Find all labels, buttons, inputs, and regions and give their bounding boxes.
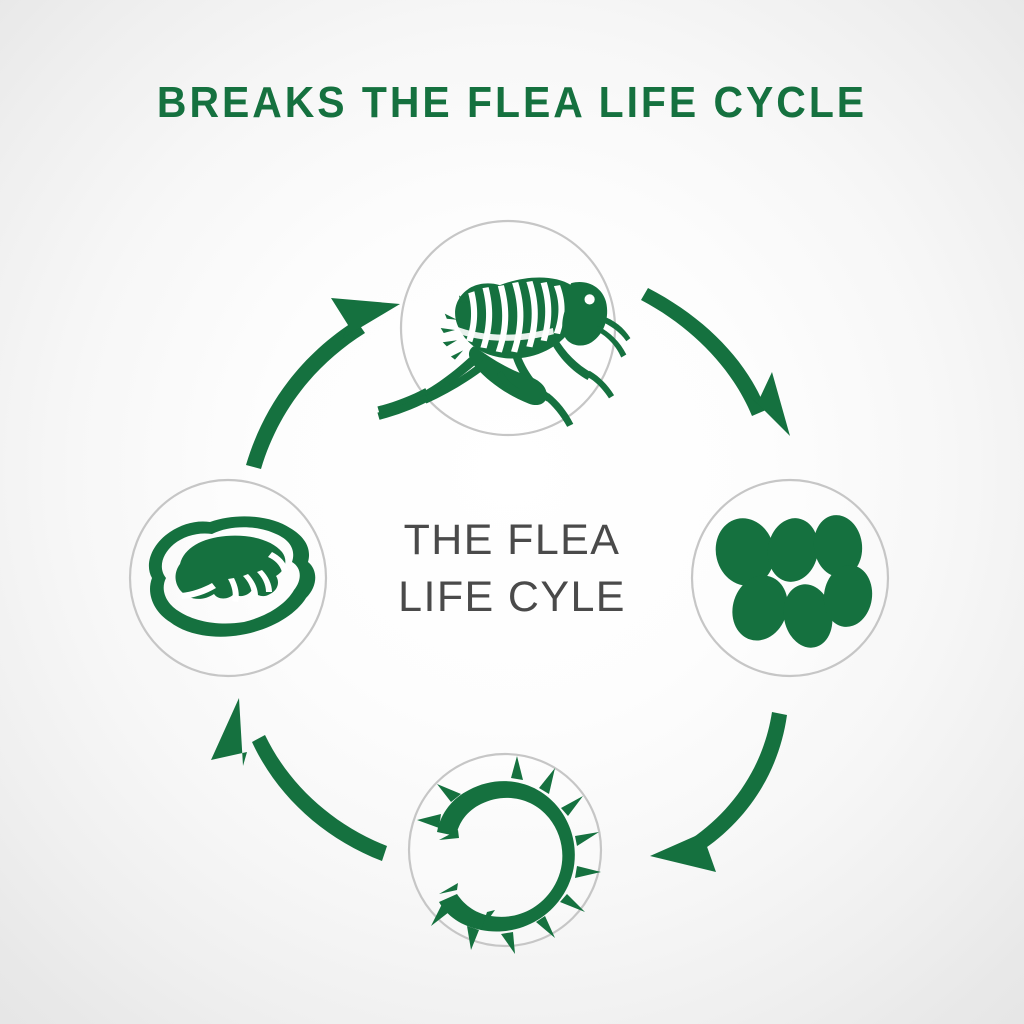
curved-arrow-pupa-to-adult	[246, 298, 400, 469]
cycle-diagram	[0, 0, 1024, 1024]
curved-arrow-larva-to-pupa	[211, 698, 387, 861]
flea-life-cycle-infographic: BREAKS THE FLEA LIFE CYCLE THE FLEA LIFE…	[0, 0, 1024, 1024]
curved-arrow-eggs-to-larva	[650, 712, 787, 872]
curved-arrow-adult-to-eggs	[641, 288, 790, 436]
